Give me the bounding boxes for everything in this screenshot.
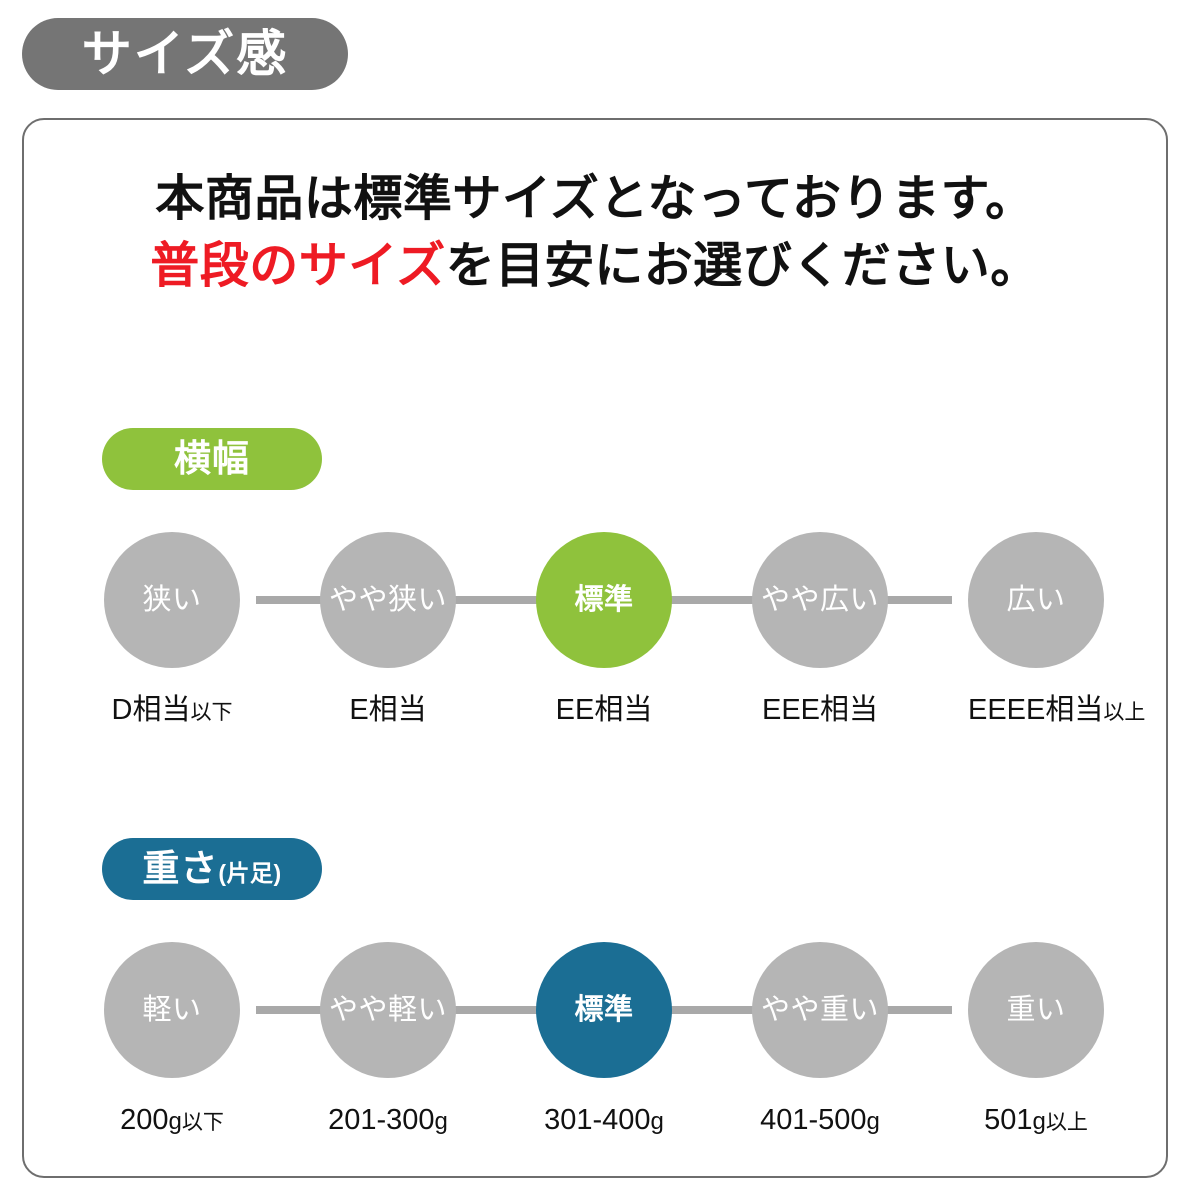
weight-caption-4-sub: 以上 [1046, 1111, 1088, 1134]
lead-text-block: 本商品は標準サイズとなっております。 普段のサイズを目安にお選びください。 [24, 166, 1166, 299]
width-node-4[interactable]: 広い [968, 532, 1104, 668]
width-caption-4-main: EEEE相当 [968, 694, 1103, 726]
lead-line-2: 普段のサイズを目安にお選びください。 [24, 233, 1166, 300]
weight-caption-1-unit: g [435, 1108, 448, 1135]
weight-node-list: 軽い やや軽い 標準 やや重い 重い [104, 942, 1104, 1078]
width-caption-3-main: EEE相当 [762, 694, 878, 726]
weight-caption-0: 200g以下 [104, 1106, 240, 1135]
section-weight-badge: 重さ (片足) [102, 838, 322, 900]
weight-node-4-label: 重い [1006, 996, 1065, 1025]
weight-caption-2: 301-400g [536, 1106, 672, 1135]
weight-node-2-label: 標準 [574, 996, 633, 1025]
weight-caption-2-main: 301-400 [544, 1104, 650, 1136]
section-weight-sublabel: (片足) [218, 842, 281, 904]
weight-caption-3-unit: g [867, 1108, 880, 1135]
weight-node-3-label: やや重い [761, 996, 879, 1025]
width-node-3-label: やや広い [761, 586, 879, 615]
size-guide-card: 本商品は標準サイズとなっております。 普段のサイズを目安にお選びください。 横幅… [22, 118, 1168, 1178]
page-header-label: サイズ感 [82, 29, 289, 79]
weight-caption-3-main: 401-500 [760, 1104, 866, 1136]
width-caption-0-sub: 以下 [190, 701, 232, 724]
lead-line-2-text: を目安にお選びください。 [446, 239, 1040, 293]
width-caption-2-main: EE相当 [556, 694, 653, 726]
width-caption-4: EEEE相当以上 [968, 696, 1104, 725]
weight-caption-0-sub: 以下 [182, 1111, 224, 1134]
weight-scale: 軽い やや軽い 標準 やや重い 重い [104, 942, 1104, 1078]
weight-caption-1-main: 201-300 [328, 1104, 434, 1136]
weight-caption-4-unit: g [1033, 1108, 1046, 1135]
width-scale: 狭い やや狭い 標準 やや広い 広い [104, 532, 1104, 668]
width-node-3[interactable]: やや広い [752, 532, 888, 668]
width-caption-0: D相当以下 [104, 696, 240, 725]
weight-caption-0-unit: g [169, 1108, 182, 1135]
weight-caption-0-main: 200 [120, 1104, 168, 1136]
weight-node-3[interactable]: やや重い [752, 942, 888, 1078]
weight-node-0[interactable]: 軽い [104, 942, 240, 1078]
width-node-list: 狭い やや狭い 標準 やや広い 広い [104, 532, 1104, 668]
width-node-2-label: 標準 [574, 586, 633, 615]
lead-line-1-text: 本商品は標準サイズとなっております。 [155, 172, 1034, 226]
width-node-1-label: やや狭い [329, 586, 447, 615]
weight-caption-4-main: 501 [984, 1104, 1032, 1136]
section-width-badge: 横幅 [102, 428, 322, 490]
weight-node-0-label: 軽い [142, 996, 201, 1025]
width-node-0-label: 狭い [142, 586, 201, 615]
section-width-label: 横幅 [174, 428, 250, 490]
width-node-2-active[interactable]: 標準 [536, 532, 672, 668]
width-caption-1-main: E相当 [349, 694, 426, 726]
page-header-badge: サイズ感 [22, 18, 348, 90]
width-node-1[interactable]: やや狭い [320, 532, 456, 668]
width-node-0[interactable]: 狭い [104, 532, 240, 668]
width-caption-list: D相当以下 E相当 EE相当 EEE相当 EEEE相当以上 [104, 696, 1104, 725]
weight-node-4[interactable]: 重い [968, 942, 1104, 1078]
lead-accent-text: 普段のサイズ [150, 239, 446, 293]
width-node-4-label: 広い [1006, 586, 1065, 615]
weight-caption-4: 501g以上 [968, 1106, 1104, 1135]
weight-node-1-label: やや軽い [329, 996, 447, 1025]
weight-caption-list: 200g以下 201-300g 301-400g 401-500g 501g以上 [104, 1106, 1104, 1135]
width-caption-0-main: D相当 [112, 694, 191, 726]
weight-caption-2-unit: g [651, 1108, 664, 1135]
width-caption-4-sub: 以上 [1103, 701, 1145, 724]
weight-caption-1: 201-300g [320, 1106, 456, 1135]
lead-line-1: 本商品は標準サイズとなっております。 [24, 166, 1166, 233]
weight-node-1[interactable]: やや軽い [320, 942, 456, 1078]
width-caption-3: EEE相当 [752, 696, 888, 725]
width-caption-1: E相当 [320, 696, 456, 725]
weight-node-2-active[interactable]: 標準 [536, 942, 672, 1078]
section-weight-label: 重さ [142, 838, 218, 900]
width-caption-2: EE相当 [536, 696, 672, 725]
weight-caption-3: 401-500g [752, 1106, 888, 1135]
